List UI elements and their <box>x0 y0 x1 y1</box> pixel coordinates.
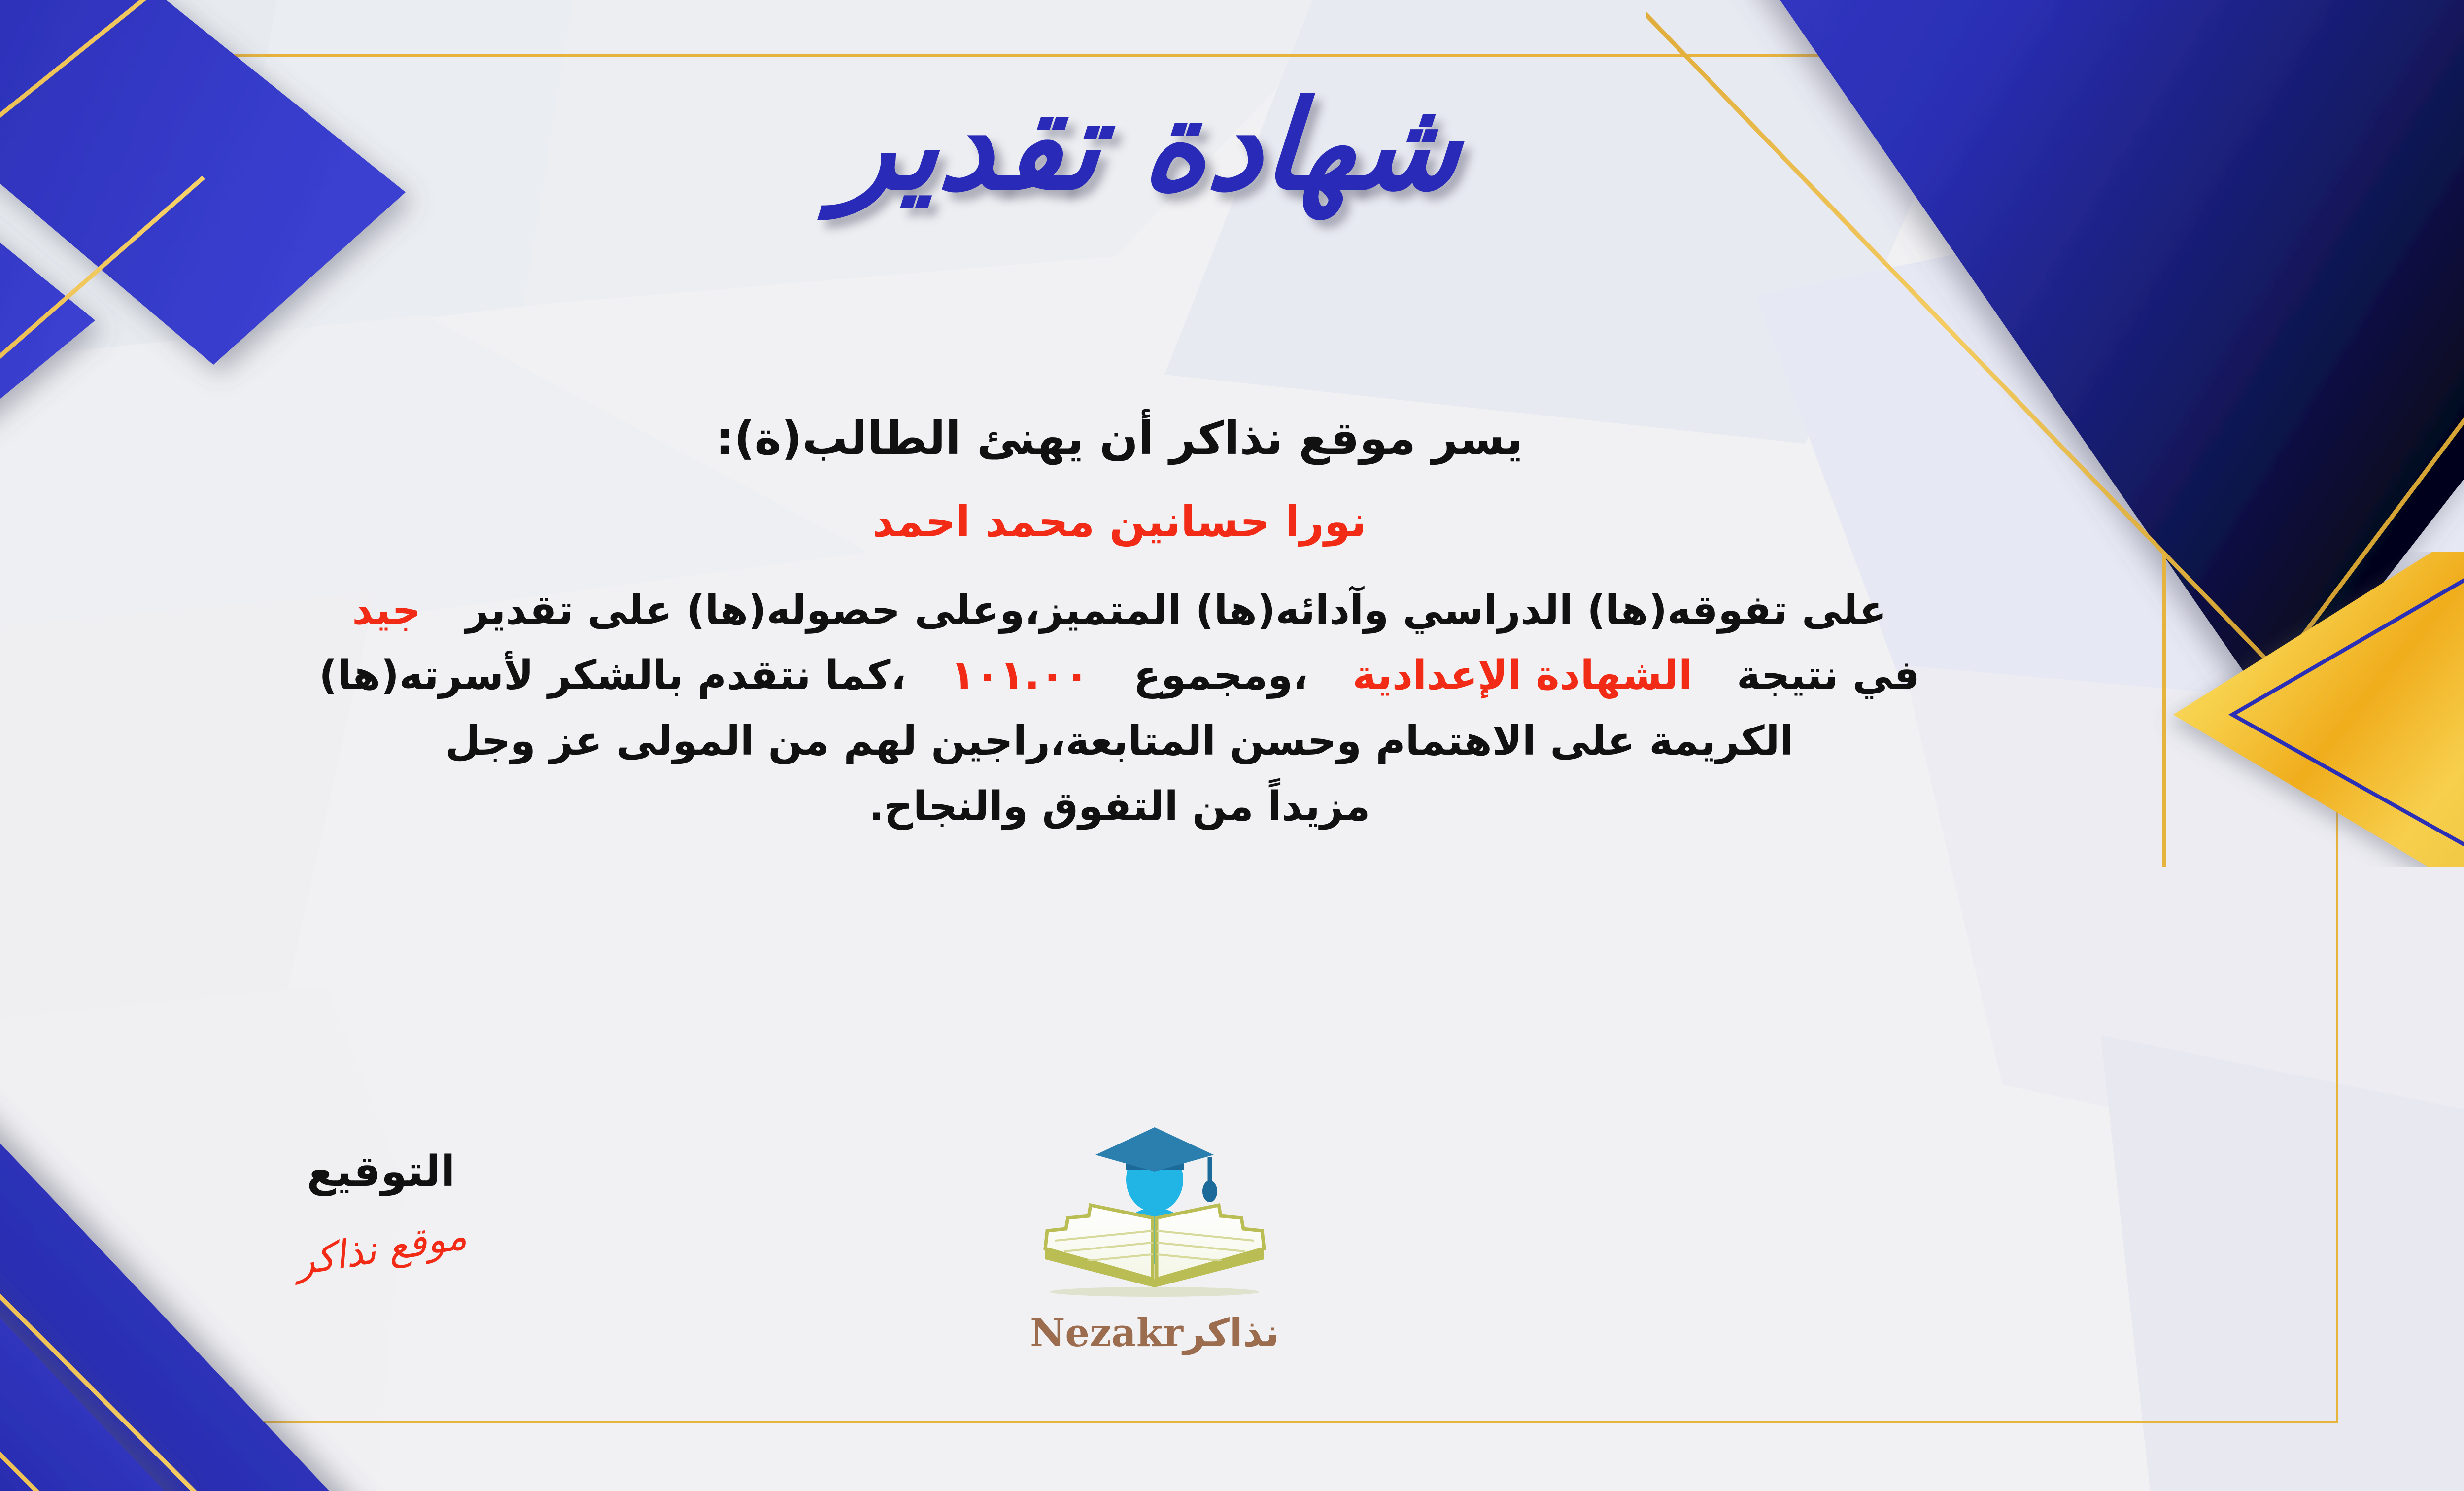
result-suffix: ،كما نتقدم بالشكر لأسرته(ها) <box>319 652 906 699</box>
achievement-text: على تفوقه(ها) الدراسي وآدائه(ها) المتميز… <box>465 587 1886 634</box>
certificate-title-area: شهادة تقدير <box>0 69 2464 223</box>
result-mid: ،ومجموع <box>1133 652 1308 699</box>
brand-latin-name: Nezakr <box>1030 1311 1183 1355</box>
total-score: ١٠١.٠٠ <box>951 652 1089 699</box>
grade-value: جيد <box>352 587 421 634</box>
result-prefix: في نتيجة <box>1737 652 1920 699</box>
achievement-paragraph: على تفوقه(ها) الدراسي وآدائه(ها) المتميز… <box>0 578 2316 644</box>
brand-arabic-name: نذاكر <box>1183 1311 1279 1355</box>
signature-block: التوقيع موقع نذاكر <box>208 1148 553 1271</box>
certificate-title: شهادة تقدير <box>832 69 1466 223</box>
thanks-paragraph: الكريمة على الاهتمام وحسن المتابعة،راجين… <box>0 709 2316 774</box>
student-name: نورا حسانين محمد احمد <box>0 490 2316 555</box>
certificate-body: يسر موقع نذاكر أن يهنئ الطالب(ة): نورا ح… <box>0 404 2316 840</box>
closing-paragraph: مزيداً من التفوق والنجاح. <box>0 774 2316 840</box>
certificate-canvas: شهادة تقدير يسر موقع نذاكر أن يهنئ الطال… <box>0 0 2464 1491</box>
greeting-line: يسر موقع نذاكر أن يهنئ الطالب(ة): <box>0 404 2316 473</box>
certificate-stage: الشهادة الإعدادية <box>1352 652 1692 699</box>
brand-logo: Nezakrنذاكر <box>938 1116 1371 1355</box>
graduate-book-icon <box>1017 1116 1293 1314</box>
brand-logo-text: Nezakrنذاكر <box>938 1311 1371 1355</box>
result-paragraph: في نتيجةالشهادة الإعدادية،ومجموع١٠١.٠٠،ك… <box>0 643 2316 709</box>
signature-label: التوقيع <box>208 1148 553 1195</box>
